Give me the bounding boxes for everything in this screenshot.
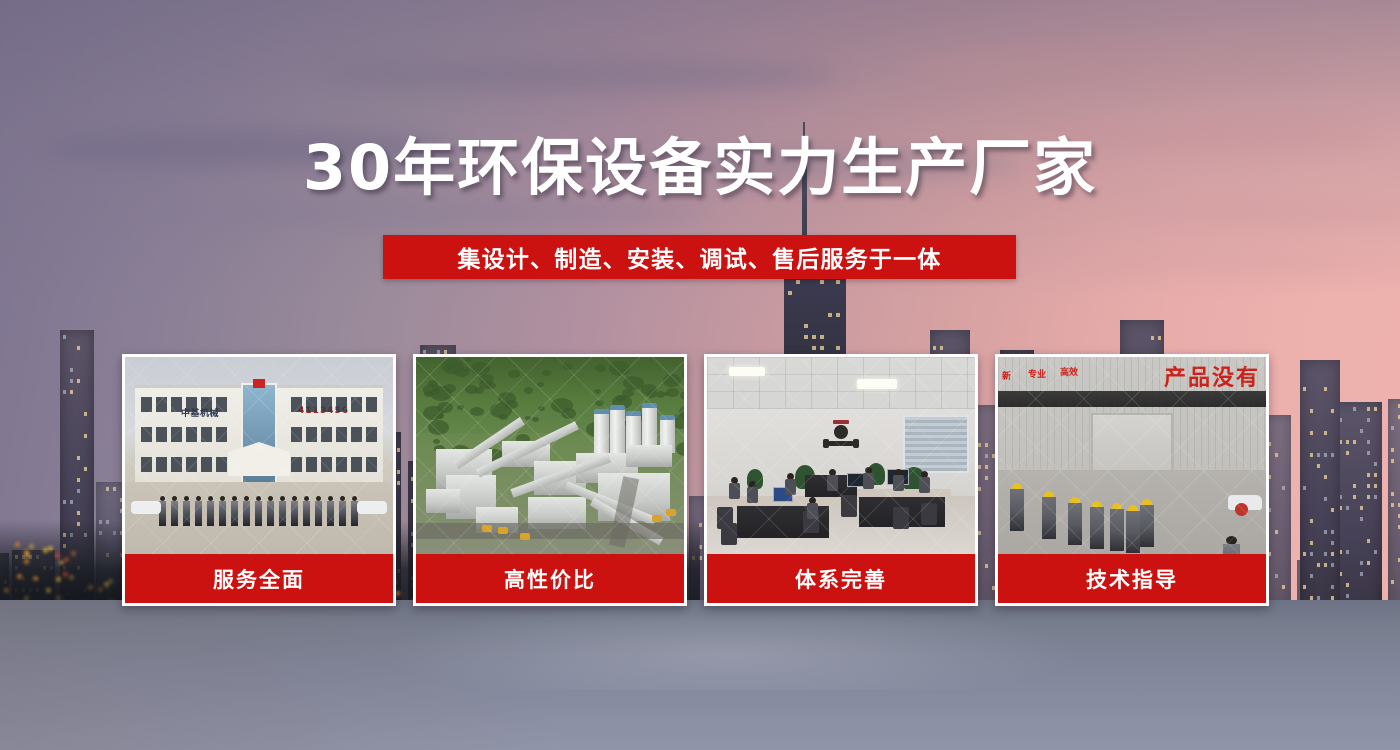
card-caption-label: 服务全面 bbox=[213, 564, 305, 594]
feature-card[interactable]: 高性价比 bbox=[413, 354, 687, 606]
aerial-plant-photo bbox=[416, 357, 684, 554]
promo-banner: 30年环保设备实力生产厂家 集设计、制造、安装、调试、售后服务于一体 中基机械 … bbox=[0, 0, 1400, 750]
subtitle-bar: 集设计、制造、安装、调试、售后服务于一体 bbox=[383, 235, 1016, 279]
card-caption-label: 高性价比 bbox=[504, 564, 596, 594]
feature-card-list: 中基机械 4113456 服务全面 bbox=[122, 354, 1278, 606]
feature-card[interactable]: 产品没有 新 专业 高效 技术指导 bbox=[995, 354, 1269, 606]
card-caption: 服务全面 bbox=[125, 554, 393, 603]
hard-hat-icon bbox=[1235, 503, 1248, 516]
feature-card[interactable]: 体系完善 bbox=[704, 354, 978, 606]
card-caption: 技术指导 bbox=[998, 554, 1266, 603]
flag-icon bbox=[253, 379, 265, 388]
feature-card[interactable]: 中基机械 4113456 服务全面 bbox=[122, 354, 396, 606]
wall-decal-icon bbox=[819, 419, 863, 453]
card-caption: 体系完善 bbox=[707, 554, 975, 603]
workshop-team-photo: 产品没有 新 专业 高效 bbox=[998, 357, 1266, 554]
page-title: 30年环保设备实力生产厂家 bbox=[0, 131, 1400, 205]
office-interior-photo bbox=[707, 357, 975, 554]
skyline-building bbox=[1300, 360, 1340, 630]
company-headquarters-photo: 中基机械 4113456 bbox=[125, 357, 393, 554]
cloud-streak-icon bbox=[900, 50, 1320, 84]
card-caption-label: 体系完善 bbox=[795, 564, 887, 594]
skyline-building bbox=[1388, 399, 1400, 630]
card-caption-label: 技术指导 bbox=[1086, 564, 1178, 594]
subtitle-text: 集设计、制造、安装、调试、售后服务于一体 bbox=[458, 240, 942, 274]
card-caption: 高性价比 bbox=[416, 554, 684, 603]
cloud-streak-icon bbox=[320, 60, 840, 90]
window-blinds bbox=[903, 415, 969, 473]
water-mist bbox=[380, 600, 1080, 690]
